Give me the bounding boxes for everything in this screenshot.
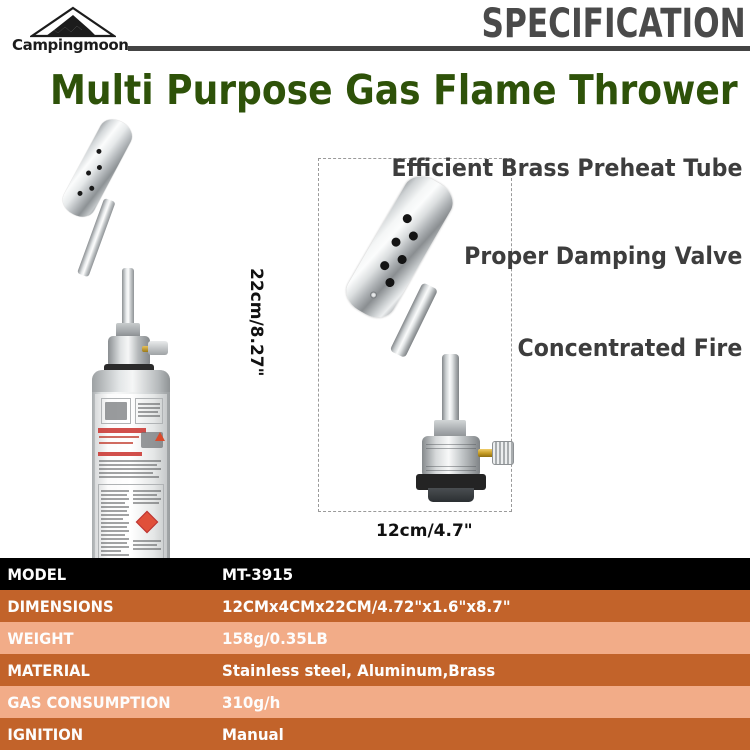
dimension-height-label: 22cm/8.27" (246, 268, 266, 376)
torch-head-right (339, 169, 459, 325)
table-row: MODEL MT-3915 (0, 558, 750, 590)
spec-label: WEIGHT (0, 629, 204, 648)
page-header: Campingmoon SPECIFICATION (0, 0, 750, 58)
table-row: DIMENSIONS 12CMx4CMx22CM/4.72"x1.6"x8.7" (0, 590, 750, 622)
specification-page: Campingmoon SPECIFICATION Multi Purpose … (0, 0, 750, 750)
canister-mount-foot (428, 488, 474, 502)
product-photo-torch-head (318, 158, 518, 518)
spec-label: IGNITION (0, 725, 204, 744)
up-arrow-icon (155, 432, 165, 441)
table-row: MATERIAL Stainless steel, Aluminum,Brass (0, 654, 750, 686)
canister-top (92, 370, 170, 392)
section-title-specification: SPECIFICATION (482, 2, 746, 46)
feature-callout-1: Efficient Brass Preheat Tube (391, 155, 742, 181)
screw-icon (369, 290, 379, 300)
feature-callout-2: Proper Damping Valve (464, 243, 742, 269)
page-title: Multi Purpose Gas Flame Thrower Gun (50, 68, 666, 112)
spec-value: Stainless steel, Aluminum,Brass (222, 661, 718, 680)
table-row: IGNITION Manual (0, 718, 750, 750)
spec-label: DIMENSIONS (0, 597, 204, 616)
brand-wordmark: Campingmoon (12, 36, 134, 54)
valve-knob-left (148, 341, 168, 355)
brand-logo: Campingmoon (12, 6, 134, 56)
torch-neck-lower-right (442, 354, 459, 430)
spec-value: 158g/0.35LB (222, 629, 718, 648)
dimension-width-label: 12cm/4.7" (376, 521, 473, 541)
feature-callout-3: Concentrated Fire (517, 335, 742, 361)
spec-label: MATERIAL (0, 661, 204, 680)
specification-table: MODEL MT-3915 DIMENSIONS 12CMx4CMx22CM/4… (0, 558, 750, 750)
damping-valve-knob[interactable] (492, 441, 514, 465)
torch-valve-body-right (422, 436, 480, 478)
spec-label: GAS CONSUMPTION (0, 693, 204, 712)
mountain-logo-icon (30, 6, 116, 38)
torch-head-left (58, 114, 137, 222)
spec-label: MODEL (0, 565, 204, 584)
table-row: WEIGHT 158g/0.35LB (0, 622, 750, 654)
spec-value: 12CMx4CMx22CM/4.72"x1.6"x8.7" (222, 597, 718, 616)
spec-value: Manual (222, 725, 718, 744)
table-row: GAS CONSUMPTION 310g/h (0, 686, 750, 718)
spec-value: MT-3915 (222, 565, 718, 584)
spec-value: 310g/h (222, 693, 718, 712)
product-photo-torch-with-canister (48, 108, 228, 548)
